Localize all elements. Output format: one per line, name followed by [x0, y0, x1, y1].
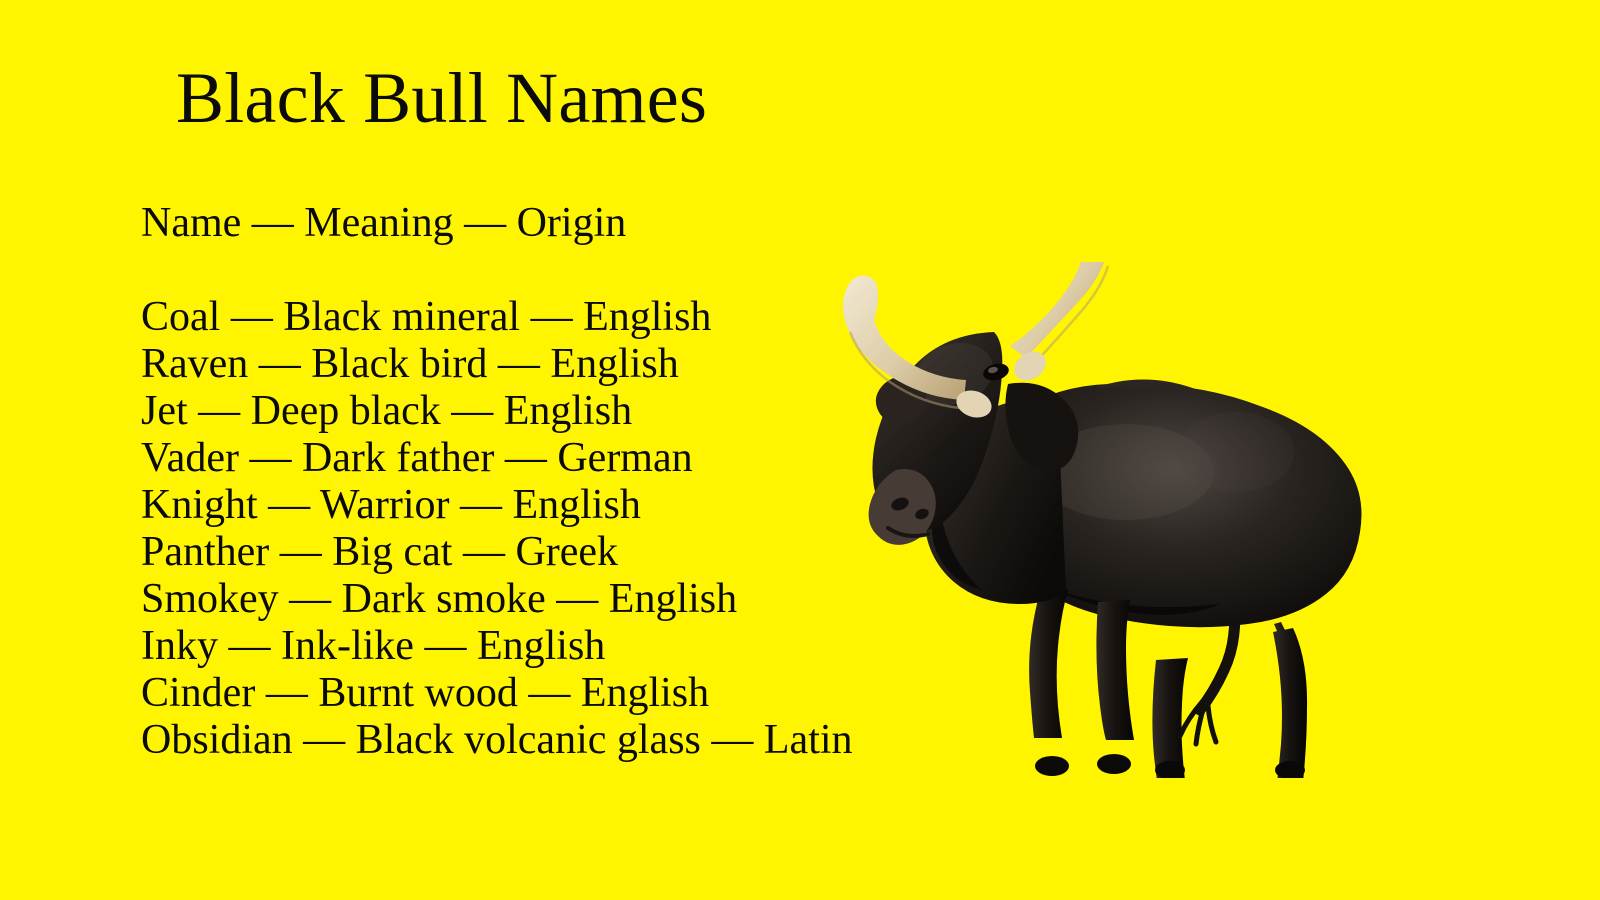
- list-item: Knight — Warrior — English: [141, 482, 941, 529]
- entry-meaning: Black bird: [311, 341, 487, 387]
- entry-name: Inky: [141, 623, 218, 669]
- entry-separator: —: [518, 670, 581, 716]
- entry-name: Knight: [141, 482, 258, 528]
- entry-separator: —: [258, 482, 320, 528]
- entry-separator: —: [546, 576, 609, 622]
- entry-name: Vader: [141, 435, 239, 481]
- entry-meaning: Dark smoke: [342, 576, 546, 622]
- names-text-column: Name — Meaning — Origin Coal — Black min…: [141, 200, 941, 764]
- entry-separator: —: [494, 435, 557, 481]
- entry-meaning: Burnt wood: [318, 670, 518, 716]
- entry-separator: —: [220, 294, 283, 340]
- entry-separator: —: [293, 717, 356, 763]
- entry-separator: —: [701, 717, 764, 763]
- entry-origin: German: [557, 435, 692, 481]
- entry-origin: English: [504, 388, 632, 434]
- list-item: Vader — Dark father — German: [141, 435, 941, 482]
- list-item: Obsidian — Black volcanic glass — Latin: [141, 717, 941, 764]
- entry-separator: —: [269, 529, 332, 575]
- bull-hooves-rear: [1155, 761, 1305, 778]
- list-item: Coal — Black mineral — English: [141, 294, 941, 341]
- entry-name: Smokey: [141, 576, 279, 622]
- entry-separator: —: [414, 623, 477, 669]
- bull-illustration: [826, 262, 1378, 778]
- entry-name: Cinder: [141, 670, 255, 716]
- entry-separator: —: [239, 435, 302, 481]
- bull-image: [826, 262, 1378, 778]
- bull-hooves-front: [1035, 754, 1131, 776]
- entry-origin: Greek: [515, 529, 618, 575]
- entry-meaning: Black mineral: [283, 294, 520, 340]
- entry-origin: English: [512, 482, 640, 528]
- entry-origin: English: [550, 341, 678, 387]
- slide-canvas: Black Bull Names Name — Meaning — Origin…: [0, 0, 1600, 900]
- entry-origin: English: [477, 623, 605, 669]
- list-item: Jet — Deep black — English: [141, 388, 941, 435]
- entry-separator: —: [188, 388, 251, 434]
- list-item: Panther — Big cat — Greek: [141, 529, 941, 576]
- entry-meaning: Ink-like: [281, 623, 414, 669]
- entry-meaning: Deep black: [251, 388, 441, 434]
- list-item: Inky — Ink-like — English: [141, 623, 941, 670]
- entry-meaning: Black volcanic glass: [356, 717, 701, 763]
- entry-separator: —: [452, 529, 515, 575]
- entry-name: Jet: [141, 388, 188, 434]
- entry-separator: —: [441, 388, 504, 434]
- entry-origin: English: [583, 294, 711, 340]
- entry-name: Obsidian: [141, 717, 293, 763]
- entry-name: Coal: [141, 294, 220, 340]
- entry-name: Raven: [141, 341, 248, 387]
- entry-separator: —: [520, 294, 583, 340]
- list-item: Raven — Black bird — English: [141, 341, 941, 388]
- list-item: Smokey — Dark smoke — English: [141, 576, 941, 623]
- page-title: Black Bull Names: [176, 62, 707, 134]
- entry-separator: —: [218, 623, 281, 669]
- bull-names-list: Coal — Black mineral — English Raven — B…: [141, 294, 941, 764]
- entry-separator: —: [255, 670, 318, 716]
- entry-meaning: Dark father: [302, 435, 494, 481]
- entry-meaning: Big cat: [332, 529, 452, 575]
- list-header: Name — Meaning — Origin: [141, 200, 941, 247]
- entry-name: Panther: [141, 529, 269, 575]
- entry-origin: English: [609, 576, 737, 622]
- entry-origin: English: [581, 670, 709, 716]
- bull-front-legs: [1029, 590, 1134, 740]
- entry-separator: —: [248, 341, 311, 387]
- entry-separator: —: [279, 576, 342, 622]
- entry-meaning: Warrior: [320, 482, 450, 528]
- list-item: Cinder — Burnt wood — English: [141, 670, 941, 717]
- entry-separator: —: [449, 482, 512, 528]
- entry-separator: —: [487, 341, 550, 387]
